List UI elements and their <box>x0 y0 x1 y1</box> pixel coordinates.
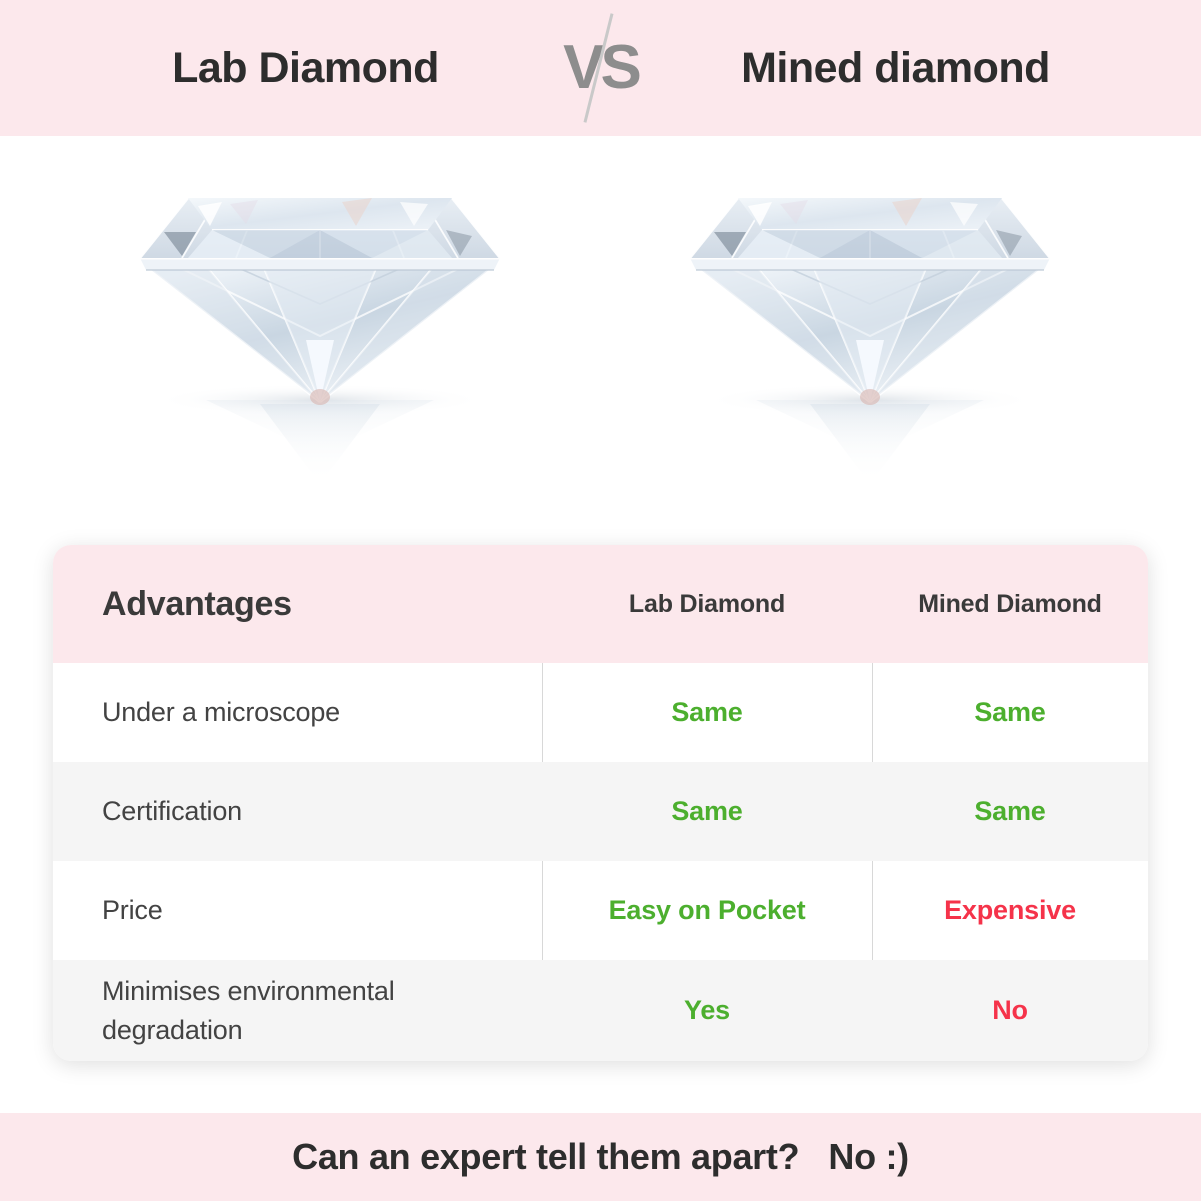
header-cell-lab: Lab Diamond <box>542 590 872 619</box>
mined-diamond-image <box>660 154 1080 534</box>
lab-diamond-image <box>110 154 530 534</box>
comparison-table: Advantages Lab Diamond Mined Diamond Und… <box>53 545 1148 1061</box>
table-header-row: Advantages Lab Diamond Mined Diamond <box>53 545 1148 663</box>
row-feature-cell: Under a microscope <box>53 693 542 731</box>
row-lab-cell: Easy on Pocket <box>542 895 872 926</box>
header-cell-advantages: Advantages <box>53 585 542 624</box>
table-row: Minimises environmental degradation Yes … <box>53 960 1148 1061</box>
footer-question: Can an expert tell them apart? No :) <box>292 1136 909 1178</box>
row-lab-value: Same <box>671 697 742 727</box>
row-mined-cell: Same <box>872 697 1148 728</box>
lab-column-label: Lab Diamond <box>629 590 785 618</box>
vs-badge: VS <box>541 8 661 128</box>
row-lab-value: Yes <box>684 995 730 1025</box>
footer-banner: Can an expert tell them apart? No :) <box>0 1113 1201 1201</box>
header-banner: Lab Diamond VS Mined diamond <box>0 0 1201 136</box>
header-title-mined: Mined diamond <box>661 44 1131 93</box>
row-lab-value: Same <box>671 796 742 826</box>
infographic-root: Lab Diamond VS Mined diamond <box>0 0 1201 1201</box>
row-mined-value: No <box>992 995 1028 1025</box>
row-mined-value: Expensive <box>944 895 1076 925</box>
row-lab-cell: Yes <box>542 995 872 1026</box>
row-lab-cell: Same <box>542 697 872 728</box>
row-mined-cell: Expensive <box>872 895 1148 926</box>
row-feature-cell: Minimises environmental degradation <box>53 972 542 1049</box>
header-cell-mined: Mined Diamond <box>872 590 1148 619</box>
row-feature-cell: Price <box>53 891 542 929</box>
row-lab-cell: Same <box>542 796 872 827</box>
row-mined-value: Same <box>974 697 1045 727</box>
table-row: Certification Same Same <box>53 762 1148 861</box>
row-mined-cell: No <box>872 995 1148 1026</box>
row-feature-label: Under a microscope <box>102 697 340 727</box>
diamond-stage <box>0 136 1201 536</box>
table-row: Under a microscope Same Same <box>53 663 1148 762</box>
row-mined-cell: Same <box>872 796 1148 827</box>
table-row: Price Easy on Pocket Expensive <box>53 861 1148 960</box>
header-title-lab: Lab Diamond <box>71 44 541 93</box>
vs-label: VS <box>563 37 638 99</box>
row-lab-value: Easy on Pocket <box>609 895 806 925</box>
row-feature-label: Minimises environmental degradation <box>102 976 395 1044</box>
row-feature-cell: Certification <box>53 792 542 830</box>
mined-column-label: Mined Diamond <box>918 590 1102 618</box>
row-feature-label: Certification <box>102 796 242 826</box>
row-mined-value: Same <box>974 796 1045 826</box>
advantages-label: Advantages <box>102 585 292 623</box>
row-feature-label: Price <box>102 895 163 925</box>
